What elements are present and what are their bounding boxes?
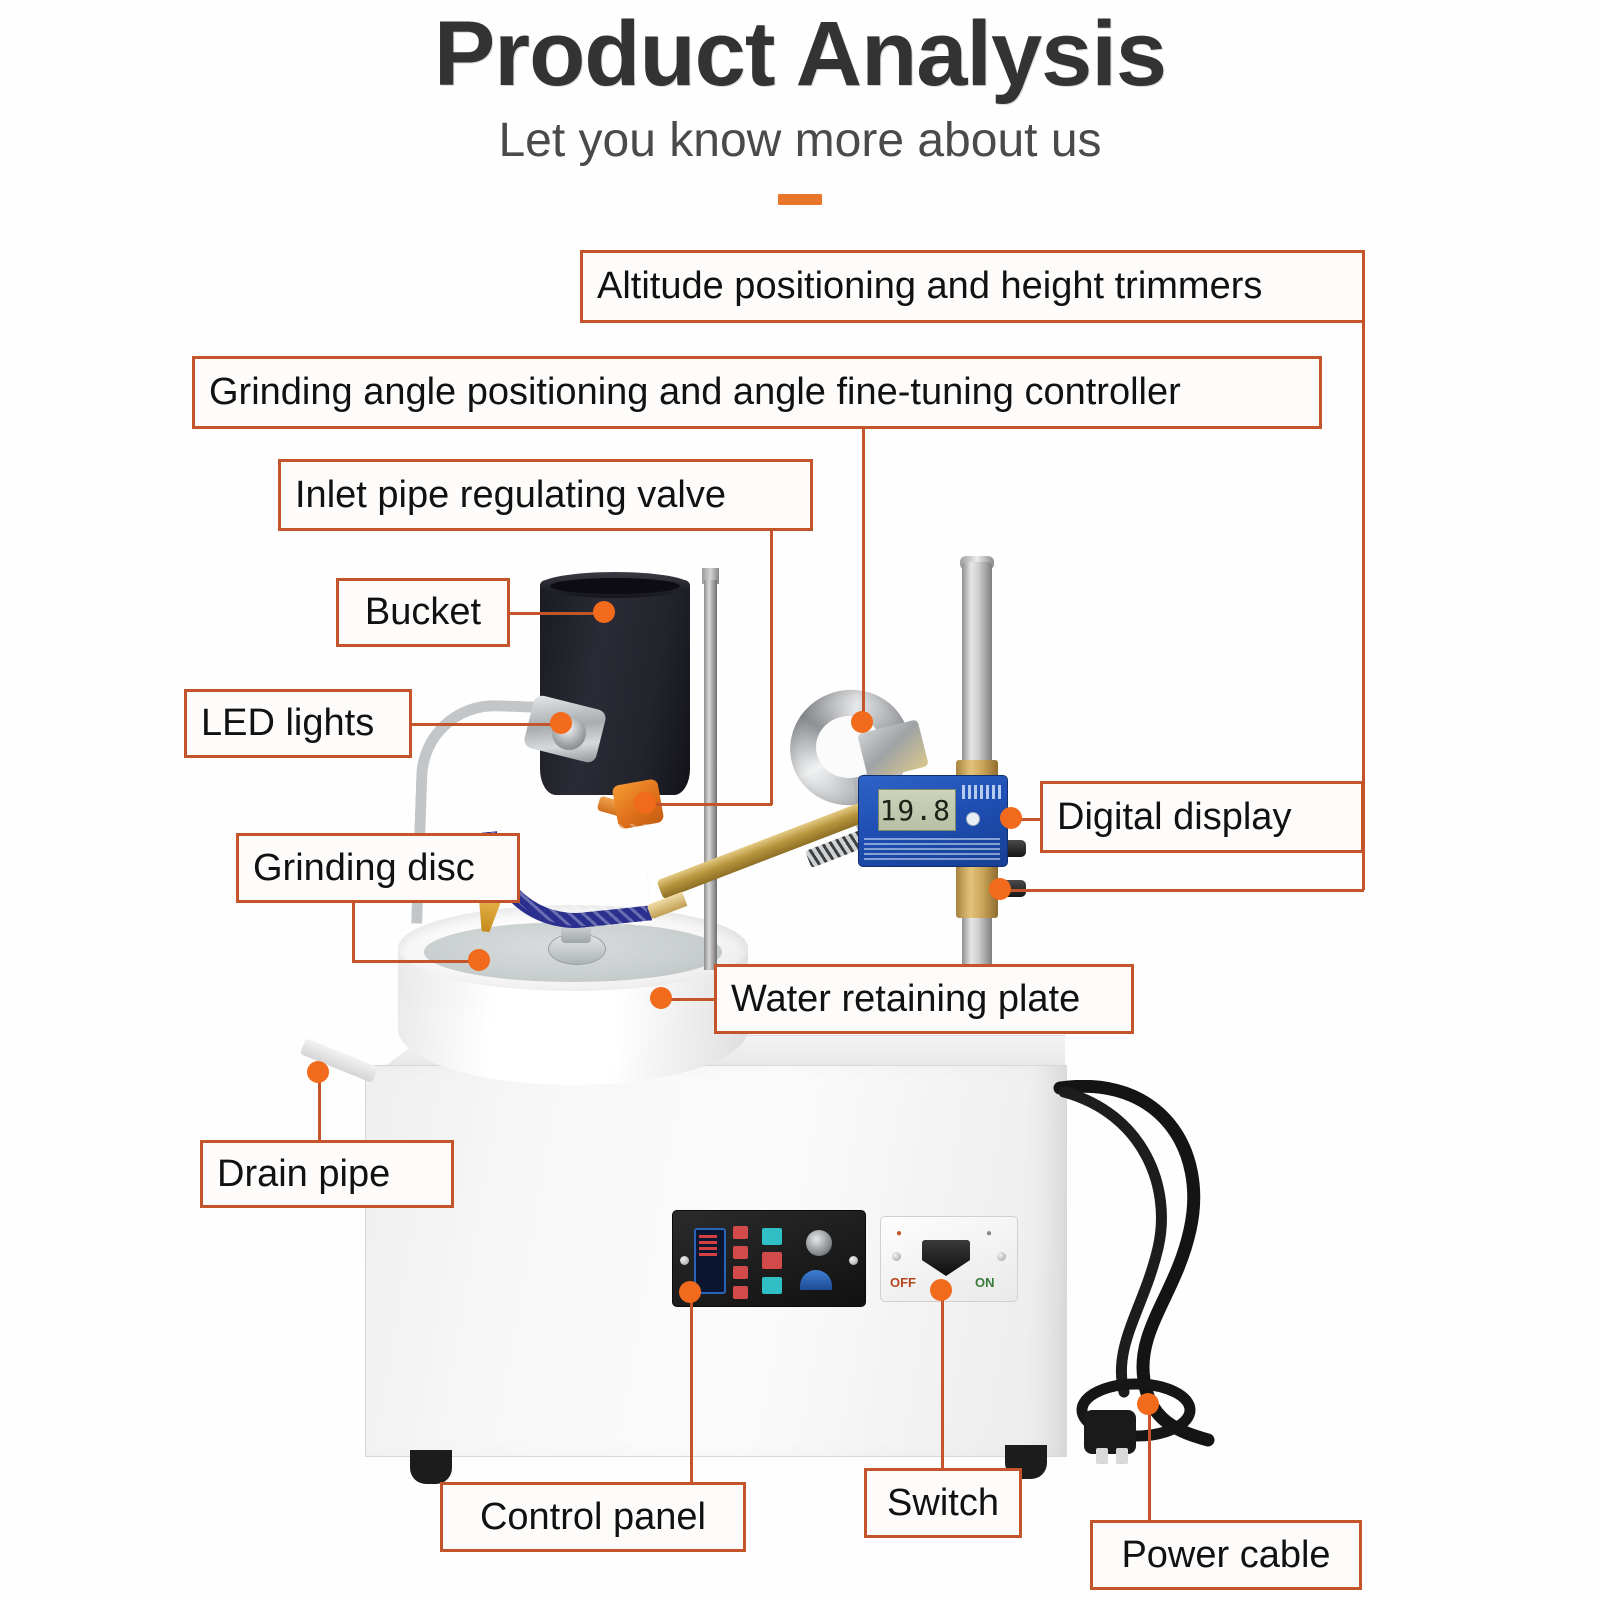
callout-label: Power cable <box>1121 1534 1330 1577</box>
callout-label: Control panel <box>480 1496 706 1539</box>
cp-button-red-2[interactable] <box>733 1246 748 1259</box>
callout-label: Altitude positioning and height trimmers <box>597 265 1262 308</box>
bucket-support-rod <box>704 580 717 970</box>
cp-button-red-1[interactable] <box>733 1226 748 1239</box>
callout-label: Grinding disc <box>253 847 475 890</box>
callout-label: Water retaining plate <box>731 978 1080 1021</box>
callout-label: Grinding angle positioning and angle fin… <box>209 371 1181 414</box>
callout-bucket[interactable]: Bucket <box>336 578 510 647</box>
switch-off-label: OFF <box>890 1275 916 1290</box>
callout-label: Bucket <box>365 591 481 634</box>
leader-altitude-h <box>1000 889 1364 892</box>
display-indicator-led <box>966 812 980 826</box>
leader-control-panel <box>690 1288 693 1482</box>
leader-led <box>410 723 562 726</box>
callout-digital-display[interactable]: Digital display <box>1040 781 1364 853</box>
water-retaining-plate-part <box>398 905 748 1100</box>
power-cable-part <box>1040 1080 1300 1500</box>
callout-grinding-angle[interactable]: Grinding angle positioning and angle fin… <box>192 356 1322 429</box>
callout-power-cable[interactable]: Power cable <box>1090 1520 1362 1590</box>
marker-drain-pipe <box>307 1061 329 1083</box>
marker-control-panel <box>679 1281 701 1303</box>
marker-altitude <box>989 878 1011 900</box>
callout-grinding-disc[interactable]: Grinding disc <box>236 833 520 903</box>
marker-digital-display <box>1000 807 1022 829</box>
cp-button-cyan-1[interactable] <box>762 1228 782 1245</box>
cp-rotary-knob[interactable] <box>806 1230 832 1256</box>
cp-button-cyan-2[interactable] <box>762 1277 782 1294</box>
callout-label: Drain pipe <box>217 1153 390 1196</box>
callout-altitude-positioning[interactable]: Altitude positioning and height trimmers <box>580 250 1365 323</box>
leader-switch <box>941 1288 944 1468</box>
callout-drain-pipe[interactable]: Drain pipe <box>200 1140 454 1208</box>
callout-inlet-valve[interactable]: Inlet pipe regulating valve <box>278 459 813 531</box>
callout-switch[interactable]: Switch <box>864 1468 1022 1538</box>
digital-display-reading: 19.8 <box>878 789 956 831</box>
cp-button-red-5[interactable] <box>762 1252 782 1269</box>
cp-button-red-4[interactable] <box>733 1286 748 1299</box>
marker-water-plate <box>650 987 672 1009</box>
leader-power-cable <box>1148 1398 1151 1522</box>
marker-inlet-valve <box>634 792 656 814</box>
callout-control-panel[interactable]: Control panel <box>440 1482 746 1552</box>
switch-on-label: ON <box>975 1275 995 1290</box>
cp-button-red-3[interactable] <box>733 1266 748 1279</box>
product-analysis-infographic: Product Analysis Let you know more about… <box>0 0 1600 1600</box>
callout-led-lights[interactable]: LED lights <box>184 689 412 758</box>
leader-inlet-valve-v <box>770 530 773 805</box>
leader-disc-h <box>352 960 480 963</box>
marker-power-cable <box>1137 1393 1159 1415</box>
callout-label: Digital display <box>1057 796 1291 839</box>
marker-led <box>550 712 572 734</box>
marker-bucket <box>593 601 615 623</box>
callout-label: Switch <box>887 1482 999 1525</box>
leader-grinding-angle <box>862 428 865 730</box>
machine-foot <box>410 1450 452 1484</box>
marker-grinding-disc <box>468 949 490 971</box>
leader-inlet-valve-h <box>652 803 772 806</box>
callout-label: Inlet pipe regulating valve <box>295 474 726 517</box>
callout-label: LED lights <box>201 702 374 745</box>
marker-switch <box>930 1279 952 1301</box>
marker-grinding-angle <box>851 711 873 733</box>
callout-water-retaining-plate[interactable]: Water retaining plate <box>714 964 1134 1034</box>
